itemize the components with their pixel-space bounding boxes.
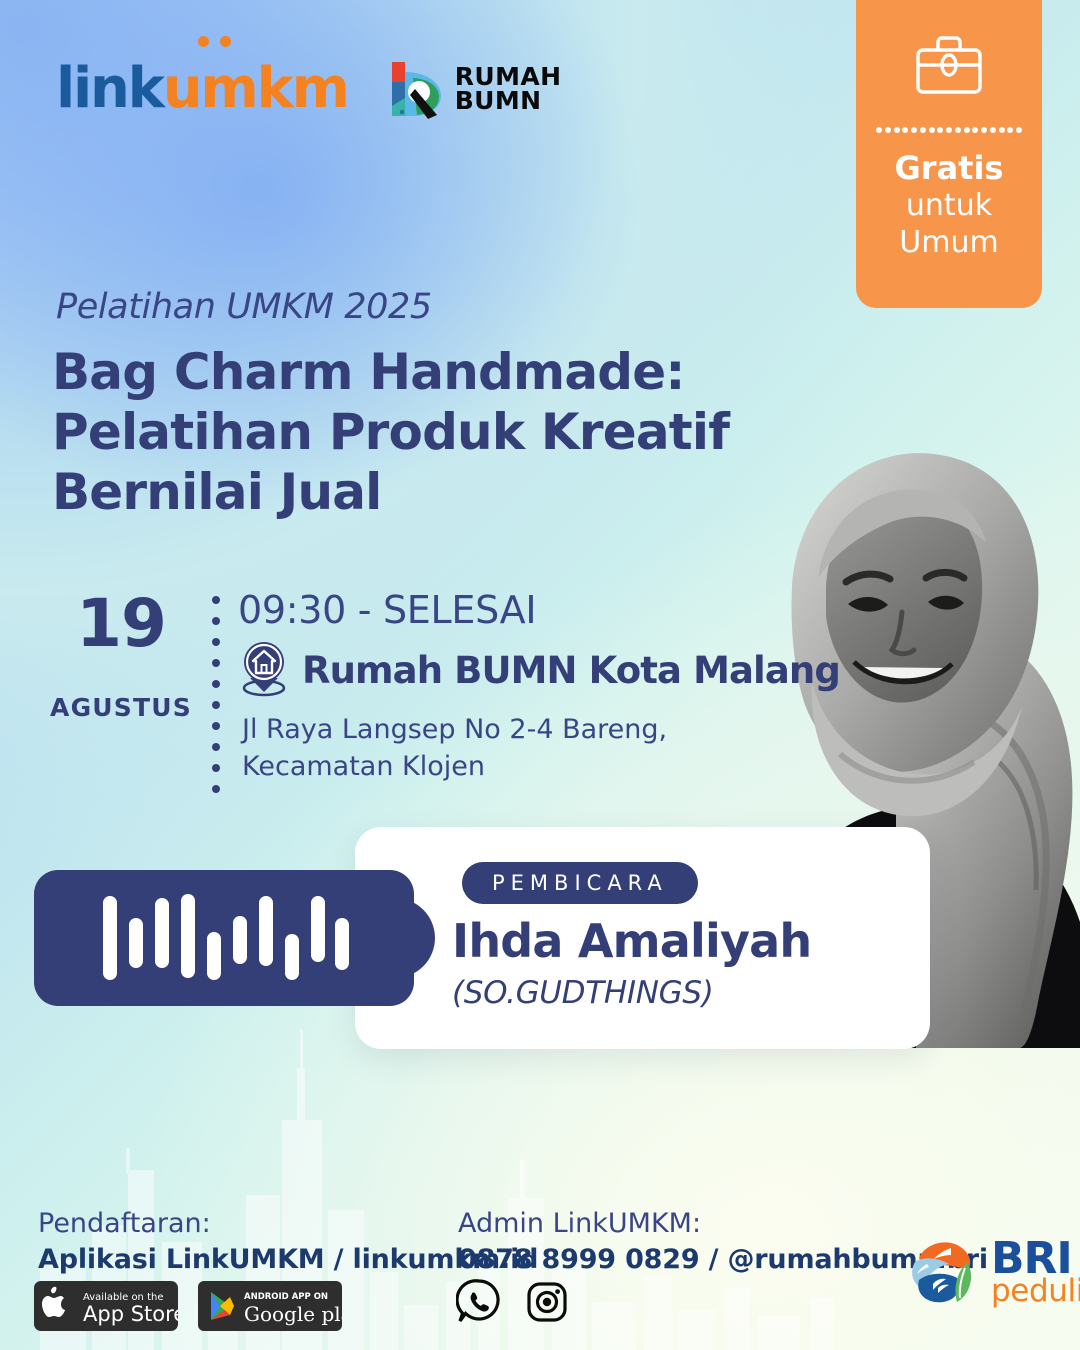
speaker-name: Ihda Amaliyah bbox=[452, 914, 811, 968]
vertical-dotted-divider bbox=[212, 596, 220, 793]
linkumkm-dot-left bbox=[198, 36, 209, 47]
linkumkm-logo: link umkm bbox=[56, 56, 348, 121]
rumah-bumn-mark-icon bbox=[388, 58, 444, 120]
location-pin-house-icon bbox=[238, 638, 290, 703]
linkumkm-logo-link: link bbox=[56, 56, 163, 121]
app-store-button[interactable]: Available on the App Store bbox=[34, 1281, 178, 1336]
bri-peduli-logo: BRI peduli bbox=[905, 1232, 1080, 1313]
poster-canvas: link umkm RUMA bbox=[0, 0, 1080, 1350]
speaker-role-badge: PEMBICARA bbox=[462, 862, 698, 904]
event-title-line-3: Bernilai Jual bbox=[52, 462, 752, 522]
google-play-button[interactable]: ANDROID APP ON Google play bbox=[198, 1281, 342, 1336]
badge-dotted-divider bbox=[876, 127, 1022, 133]
badge-line-gratis: Gratis bbox=[895, 151, 1004, 187]
linkumkm-logo-umkm: umkm bbox=[163, 56, 348, 121]
badge-line-umum: Umum bbox=[899, 224, 998, 261]
event-title-line-1: Bag Charm Handmade: bbox=[52, 342, 752, 402]
badge-line-untuk: untuk bbox=[906, 187, 992, 224]
event-time: 09:30 - SELESAI bbox=[238, 588, 840, 632]
social-icons bbox=[456, 1278, 570, 1331]
event-address-line-1: Jl Raya Langsep No 2-4 Bareng, bbox=[242, 711, 840, 748]
event-address-line-2: Kecamatan Klojen bbox=[242, 748, 840, 785]
linkumkm-dot-right bbox=[220, 36, 231, 47]
app-store-badges: Available on the App Store ANDROID APP O… bbox=[34, 1281, 342, 1336]
event-venue-name: Rumah BUMN Kota Malang bbox=[302, 649, 840, 692]
whatsapp-icon[interactable] bbox=[456, 1278, 502, 1331]
event-title-line-2: Pelatihan Produk Kreatif bbox=[52, 402, 752, 462]
event-date-number: 19 bbox=[30, 594, 212, 655]
briefcase-icon bbox=[914, 34, 984, 101]
speaker-organization: (SO.GUDTHINGS) bbox=[452, 975, 714, 1011]
svg-text:ANDROID APP ON: ANDROID APP ON bbox=[244, 1292, 328, 1302]
event-date: 19 AGUSTUS bbox=[30, 588, 212, 722]
audio-waveform-icon bbox=[34, 870, 414, 1006]
event-date-month: AGUSTUS bbox=[30, 693, 212, 722]
header-logos: link umkm RUMA bbox=[56, 56, 561, 121]
svg-text:App Store: App Store bbox=[83, 1302, 178, 1326]
rumah-bumn-logo: RUMAH BUMN bbox=[388, 58, 562, 120]
event-kicker: Pelatihan UMKM 2025 bbox=[56, 287, 432, 327]
event-address: Jl Raya Langsep No 2-4 Bareng, Kecamatan… bbox=[242, 711, 840, 786]
rumah-bumn-line2: BUMN bbox=[455, 89, 562, 113]
instagram-icon[interactable] bbox=[524, 1278, 570, 1331]
event-title: Bag Charm Handmade: Pelatihan Produk Kre… bbox=[52, 342, 752, 522]
free-admission-badge: Gratis untuk Umum bbox=[856, 0, 1042, 308]
bri-peduli-hands-leaf-icon bbox=[905, 1232, 981, 1313]
rumah-bumn-line1: RUMAH bbox=[455, 65, 562, 89]
event-datetime-block: 19 AGUSTUS 09:30 - SELESAI R bbox=[30, 588, 840, 793]
peduli-logo-text: peduli bbox=[991, 1278, 1080, 1305]
svg-text:Google play: Google play bbox=[244, 1302, 342, 1326]
